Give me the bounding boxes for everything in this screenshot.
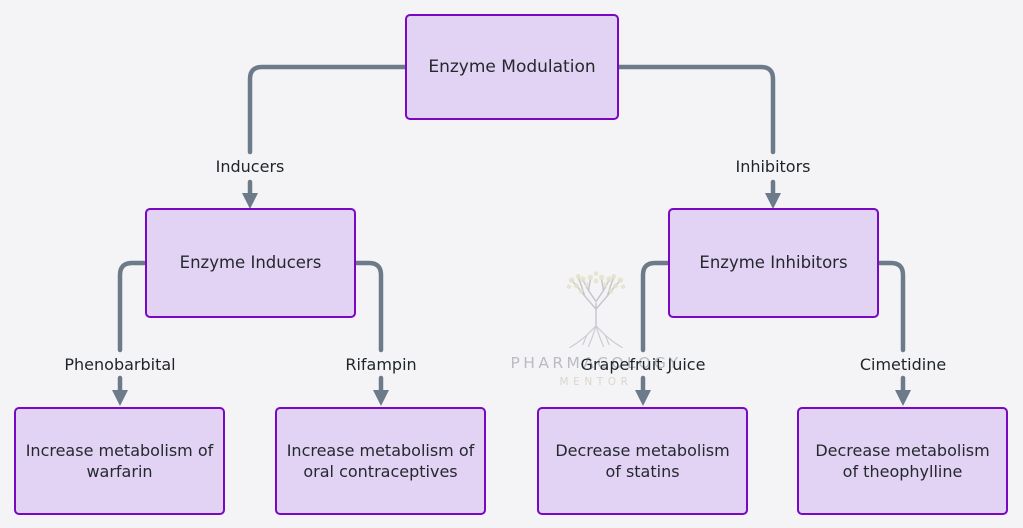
connector-inhibitors-to-cimetidine	[879, 263, 903, 350]
edge-label-cimetidine: Cimetidine	[856, 355, 950, 374]
node-enzyme-modulation[interactable]: Enzyme Modulation	[405, 14, 619, 120]
node-enzyme-inhibitors[interactable]: Enzyme Inhibitors	[668, 208, 879, 318]
connector-root-to-inducers	[250, 67, 405, 152]
node-decrease-metabolism-theophylline[interactable]: Decrease metabolism of theophylline	[797, 407, 1008, 515]
connector-inhibitors-to-grapefruit	[643, 263, 667, 350]
tree-logo-icon	[548, 268, 644, 354]
node-label: Increase metabolism of oral contraceptiv…	[285, 440, 476, 482]
edge-label-inhibitors: Inhibitors	[731, 157, 814, 176]
watermark: PHARMACOLOGY MENTOR	[498, 268, 694, 398]
arrowhead-inhibitors	[765, 193, 781, 209]
edge-label-inducers: Inducers	[212, 157, 289, 176]
node-decrease-metabolism-statins[interactable]: Decrease metabolism of statins	[537, 407, 748, 515]
node-enzyme-inducers[interactable]: Enzyme Inducers	[145, 208, 356, 318]
node-label: Decrease metabolism of statins	[547, 440, 738, 482]
edge-label-phenobarbital: Phenobarbital	[60, 355, 179, 374]
node-label: Enzyme Inducers	[180, 252, 322, 274]
flowchart-canvas: PHARMACOLOGY MENTOR Enzyme Modulation En…	[0, 0, 1023, 528]
arrowhead-cimetidine	[895, 390, 911, 406]
watermark-secondary-text: MENTOR	[559, 376, 632, 388]
node-label: Decrease metabolism of theophylline	[807, 440, 998, 482]
node-label: Increase metabolism of warfarin	[24, 440, 215, 482]
connector-inducers-to-rifampin	[357, 263, 381, 350]
edge-label-grapefruit-juice: Grapefruit Juice	[577, 355, 710, 374]
node-label: Enzyme Inhibitors	[699, 252, 847, 274]
arrowhead-phenobarbital	[112, 390, 128, 406]
arrowhead-grapefruit	[635, 390, 651, 406]
edge-label-rifampin: Rifampin	[341, 355, 420, 374]
node-increase-metabolism-warfarin[interactable]: Increase metabolism of warfarin	[14, 407, 225, 515]
node-increase-metabolism-oral-contraceptives[interactable]: Increase metabolism of oral contraceptiv…	[275, 407, 486, 515]
arrowhead-rifampin	[373, 390, 389, 406]
node-label: Enzyme Modulation	[428, 56, 595, 78]
arrowhead-inducers	[242, 193, 258, 209]
connector-root-to-inhibitors	[618, 67, 773, 152]
connector-inducers-to-phenobarbital	[120, 263, 144, 350]
